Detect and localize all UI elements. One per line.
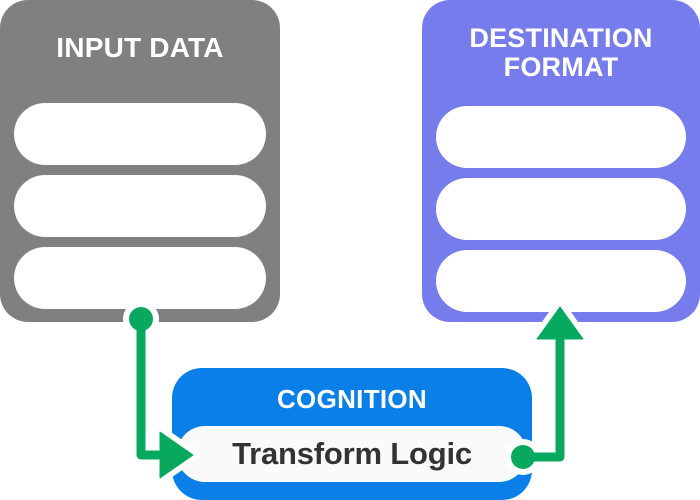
destination-row-1[interactable] xyxy=(436,106,686,168)
destination-title-line-2: FORMAT xyxy=(504,52,619,82)
input-data-rows xyxy=(14,103,266,309)
input-row-1[interactable] xyxy=(14,103,266,165)
input-row-2[interactable] xyxy=(14,175,266,237)
destination-row-3[interactable] xyxy=(436,250,686,312)
connector-1-line xyxy=(141,320,166,455)
transform-logic-pill[interactable]: Transform Logic xyxy=(177,426,527,482)
cognition-title: COGNITION xyxy=(172,384,532,415)
input-row-3[interactable] xyxy=(14,247,266,309)
transform-logic-label: Transform Logic xyxy=(232,436,472,472)
destination-title-line-1: DESTINATION xyxy=(469,23,652,53)
diagram-canvas: INPUT DATA DESTINATION FORMAT COGNITION … xyxy=(0,0,700,500)
input-data-title: INPUT DATA xyxy=(0,33,280,63)
destination-format-panel[interactable]: DESTINATION FORMAT xyxy=(422,0,700,322)
destination-format-rows xyxy=(436,106,686,312)
connector-1-outline xyxy=(141,320,166,455)
destination-row-2[interactable] xyxy=(436,178,686,240)
input-data-panel[interactable]: INPUT DATA xyxy=(0,0,280,322)
cognition-card[interactable]: COGNITION Transform Logic xyxy=(172,368,532,500)
destination-format-title: DESTINATION FORMAT xyxy=(422,24,700,82)
